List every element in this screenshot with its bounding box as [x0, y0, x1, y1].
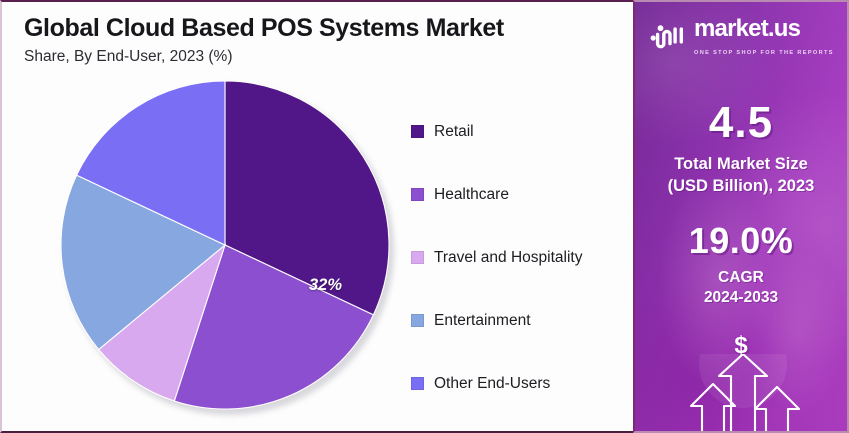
legend-label: Retail: [434, 123, 474, 141]
logo-text: market.us ONE STOP SHOP FOR THE REPORTS: [694, 15, 839, 59]
cagr-caption: CAGR 2024-2033: [635, 268, 847, 308]
legend-label: Entertainment: [434, 312, 531, 330]
legend-item-retail[interactable]: Retail: [411, 100, 626, 163]
logo-tagline: ONE STOP SHOP FOR THE REPORTS: [694, 50, 834, 56]
page-title: Global Cloud Based POS Systems Market: [24, 14, 504, 43]
infographic-root: Global Cloud Based POS Systems Market Sh…: [0, 0, 849, 433]
legend-item-other-end-users[interactable]: Other End-Users: [411, 352, 626, 415]
chart-subtitle: Share, By End-User, 2023 (%): [24, 48, 233, 66]
cagr-caption-line2: 2024-2033: [635, 288, 847, 308]
legend-item-healthcare[interactable]: Healthcare: [411, 163, 626, 226]
legend-swatch-icon: [411, 125, 424, 138]
market-size-value: 4.5: [635, 98, 847, 148]
brand-logo[interactable]: market.us ONE STOP SHOP FOR THE REPORTS: [649, 15, 839, 59]
growth-arrows-icon: [635, 354, 847, 433]
pie-slices: [60, 80, 390, 410]
chart-panel: Global Cloud Based POS Systems Market Sh…: [0, 0, 633, 433]
legend-item-entertainment[interactable]: Entertainment: [411, 289, 626, 352]
legend-swatch-icon: [411, 377, 424, 390]
legend-swatch-icon: [411, 251, 424, 264]
market-size-caption-line1: Total Market Size: [635, 154, 847, 176]
pie-chart: 32%: [60, 80, 398, 418]
market-size-caption-line2: (USD Billion), 2023: [635, 176, 847, 198]
pie-svg: [60, 80, 390, 410]
cagr-caption-line1: CAGR: [635, 268, 847, 288]
market-size-caption: Total Market Size (USD Billion), 2023: [635, 154, 847, 198]
chart-legend: Retail Healthcare Travel and Hospitality…: [411, 100, 626, 415]
pie-slice-label-retail: 32%: [309, 276, 342, 295]
legend-item-travel-and-hospitality[interactable]: Travel and Hospitality: [411, 226, 626, 289]
cagr-value: 19.0%: [635, 220, 847, 262]
legend-swatch-icon: [411, 314, 424, 327]
logo-wordmark: market.us: [694, 15, 800, 42]
legend-label: Healthcare: [434, 186, 509, 204]
legend-swatch-icon: [411, 188, 424, 201]
legend-label: Travel and Hospitality: [434, 249, 582, 267]
market-us-logo-icon: [649, 21, 687, 54]
stats-panel: market.us ONE STOP SHOP FOR THE REPORTS …: [633, 0, 849, 433]
legend-label: Other End-Users: [434, 375, 550, 393]
